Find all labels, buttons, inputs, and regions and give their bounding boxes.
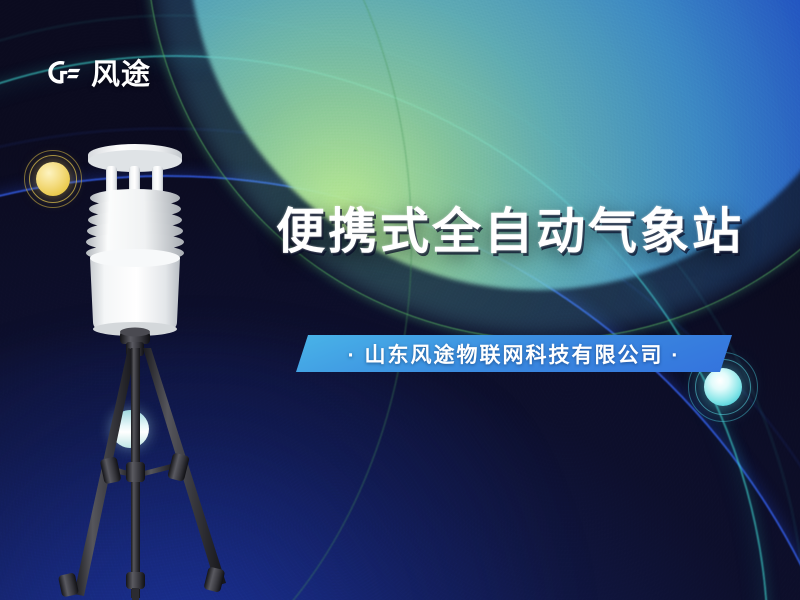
tripod-stand: [58, 328, 226, 600]
fengtu-g-logo-icon: [46, 58, 86, 92]
brand-logo-text: 风途: [91, 61, 151, 90]
company-banner-text: · 山东风途物联网科技有限公司 ·: [296, 335, 732, 372]
page-title: 便携式全自动气象站: [276, 208, 744, 257]
cyan-orb-core: [704, 368, 742, 406]
company-banner: · 山东风途物联网科技有限公司 ·: [296, 335, 732, 372]
brand-logo: 风途: [46, 58, 151, 92]
radiation-shield-sensor: [86, 144, 184, 336]
portable-weather-station: [40, 136, 310, 600]
promo-banner: 风途: [0, 0, 800, 600]
